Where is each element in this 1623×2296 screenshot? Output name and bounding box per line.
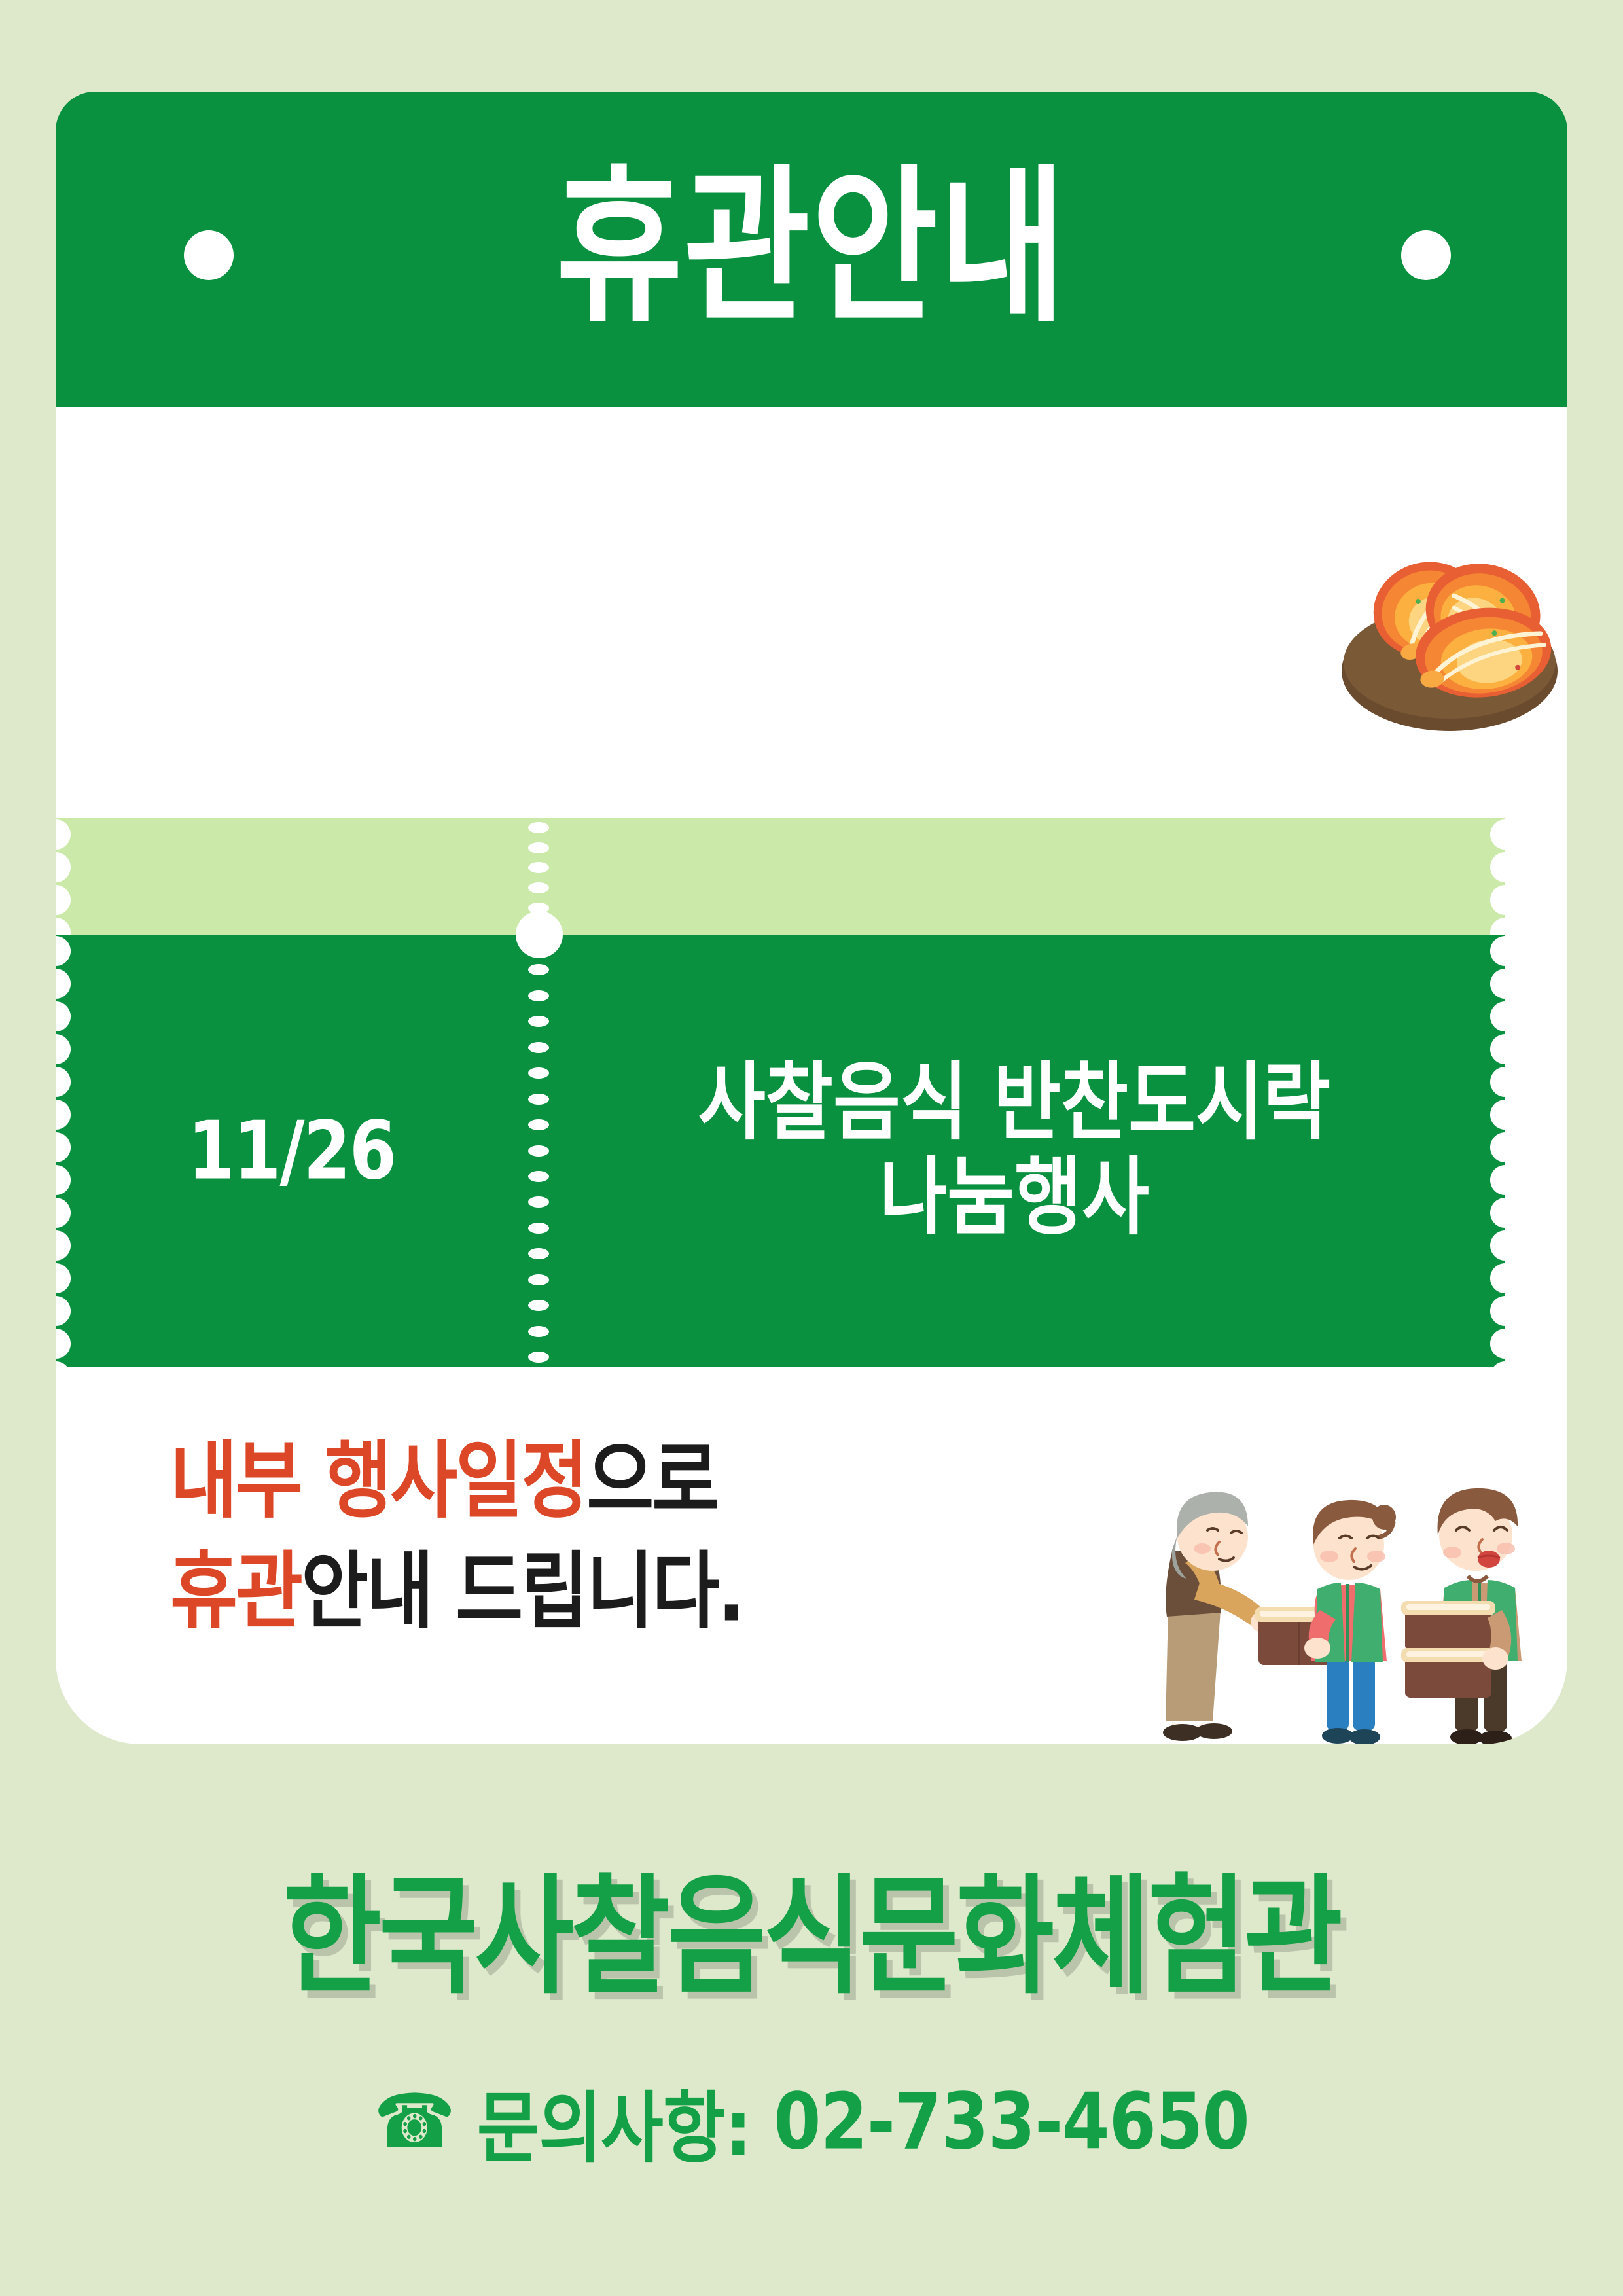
ticket-2-label: 사찰음식 반찬도시락 나눔행사 (550, 900, 1479, 1401)
telephone-icon: ☎ (374, 2084, 455, 2159)
perforation-dot (528, 990, 549, 1001)
ticket-2-date: 11/26 (56, 896, 527, 1406)
notice-line-2-rest: 안내 드립니다. (301, 1543, 743, 1640)
closure-notice-text: 내부 행사일정으로 휴관안내 드립니다. (170, 1427, 1034, 1647)
organization-name: 한국사찰음식문화체험관 (0, 1833, 1623, 2018)
perforation-dot (528, 862, 549, 873)
page-title: 휴관안내 (56, 92, 1567, 440)
ticket-2-label-line-2: 나눔행사 (880, 1151, 1149, 1246)
notice-line-2-accent: 휴관 (170, 1543, 301, 1640)
perforation-dot (528, 1145, 549, 1157)
perforation-dot (528, 1119, 549, 1130)
perforation-dot (528, 842, 549, 853)
notice-line-2: 휴관안내 드립니다. (170, 1537, 1034, 1648)
notice-line-1: 내부 행사일정으로 (170, 1427, 1034, 1537)
perforation-dot (528, 1274, 549, 1285)
notice-line-1-rest: 으로 (586, 1433, 717, 1530)
card-header: 휴관안내 (56, 92, 1567, 407)
perforation-dot (528, 1067, 549, 1079)
notice-card: 휴관안내 11/20 체험관 겨울 김장 11/26 사찰음식 반찬도시락 나눔… (56, 92, 1567, 1744)
ticket-2-label-line-1: 사찰음식 반찬도시락 (698, 1055, 1330, 1151)
phone-number[interactable]: 02-733-4650 (774, 2076, 1249, 2167)
perforation-dot (528, 1042, 549, 1053)
notice-line-1-accent: 내부 행사일정 (170, 1433, 586, 1530)
contact-label: 문의사항: (477, 2065, 751, 2178)
ticket-2-scallop-right (1486, 935, 1505, 1367)
poster-page: 휴관안내 11/20 체험관 겨울 김장 11/26 사찰음식 반찬도시락 나눔… (0, 0, 1623, 2296)
perforation-dot (528, 882, 549, 893)
perforation-dot (528, 1171, 549, 1182)
contact-line: ☎ 문의사항: 02-733-4650 (0, 2065, 1623, 2178)
perforation-dot (528, 1223, 549, 1234)
lunchbox-sharing-illustration (1109, 1414, 1541, 1744)
perforation-dot (528, 1094, 549, 1105)
perforation-dot (528, 1248, 549, 1259)
perforation-dot (528, 1196, 549, 1208)
ticket-junction-circle-icon (516, 911, 563, 958)
perforation-dot (528, 1326, 549, 1337)
perforation-dot (528, 1352, 549, 1363)
perforation-dot (528, 822, 549, 833)
perforation-dot (528, 964, 549, 975)
kimchi-bowl-illustration (1315, 517, 1567, 740)
ticket-2-perforation (527, 935, 550, 1367)
perforation-dot (528, 1300, 549, 1311)
perforation-dot (528, 1016, 549, 1027)
schedule-ticket-2: 11/26 사찰음식 반찬도시락 나눔행사 (56, 935, 1505, 1367)
